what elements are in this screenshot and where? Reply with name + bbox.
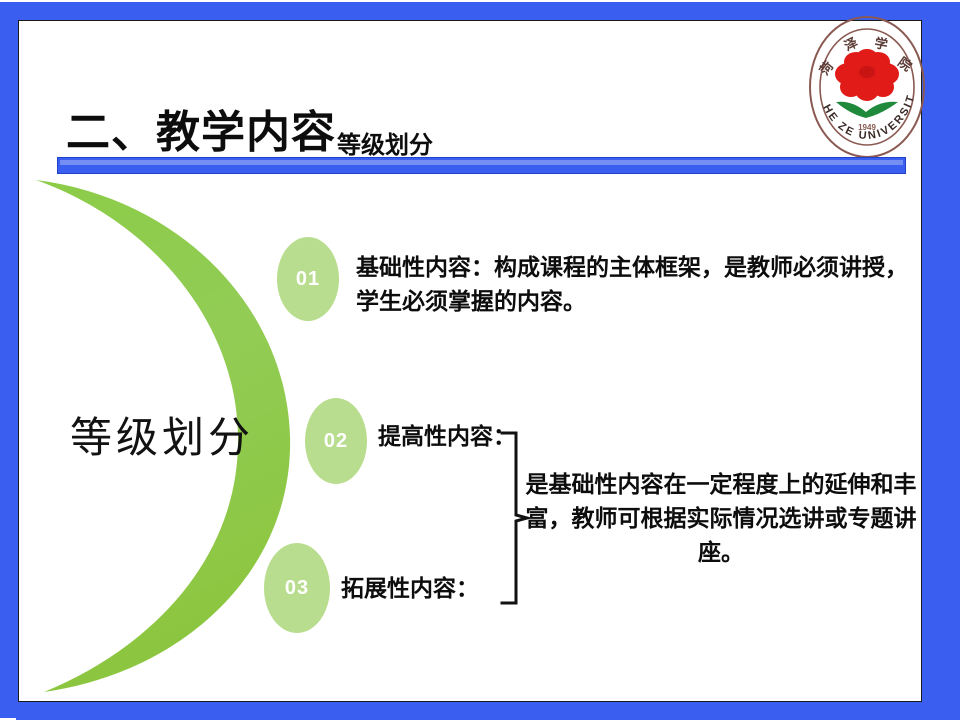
item-text-01: 基础性内容：构成课程的主体框架，是教师必须讲授，学生必须掌握的内容。: [356, 251, 916, 319]
step-number-02: 02: [324, 430, 348, 453]
connector-brace: [500, 430, 530, 606]
heze-university-logo-icon: 菏 泽 学 院 1949: [806, 14, 928, 160]
step-bubble-02[interactable]: 02: [305, 398, 367, 484]
page-title: 二、教学内容等级划分: [66, 96, 433, 160]
step-bubble-03[interactable]: 03: [264, 543, 330, 633]
step-number-01: 01: [296, 268, 320, 291]
item-detail-text: 是基础性内容在一定程度上的延伸和丰富，教师可根据实际情况选讲或专题讲座。: [524, 468, 918, 570]
slide-border-left: [0, 2, 18, 718]
page-title-subscript: 等级划分: [337, 133, 433, 159]
svg-text:泽: 泽: [842, 34, 861, 54]
step-number-03: 03: [285, 577, 309, 600]
page-title-main: 二、教学内容: [66, 108, 336, 157]
item-text-02: 提高性内容：: [378, 420, 516, 454]
step-bubble-01[interactable]: 01: [277, 237, 339, 321]
section-label: 等级划分: [70, 404, 254, 465]
title-underline-gloss: [60, 160, 903, 165]
item-text-03: 拓展性内容：: [341, 572, 479, 606]
svg-text:学: 学: [873, 35, 888, 52]
title-underline-bar: [57, 157, 906, 174]
svg-text:菏: 菏: [817, 58, 837, 77]
slide-border-bottom: [16, 702, 922, 720]
slide-canvas: 菏 泽 学 院 1949: [0, 0, 960, 720]
